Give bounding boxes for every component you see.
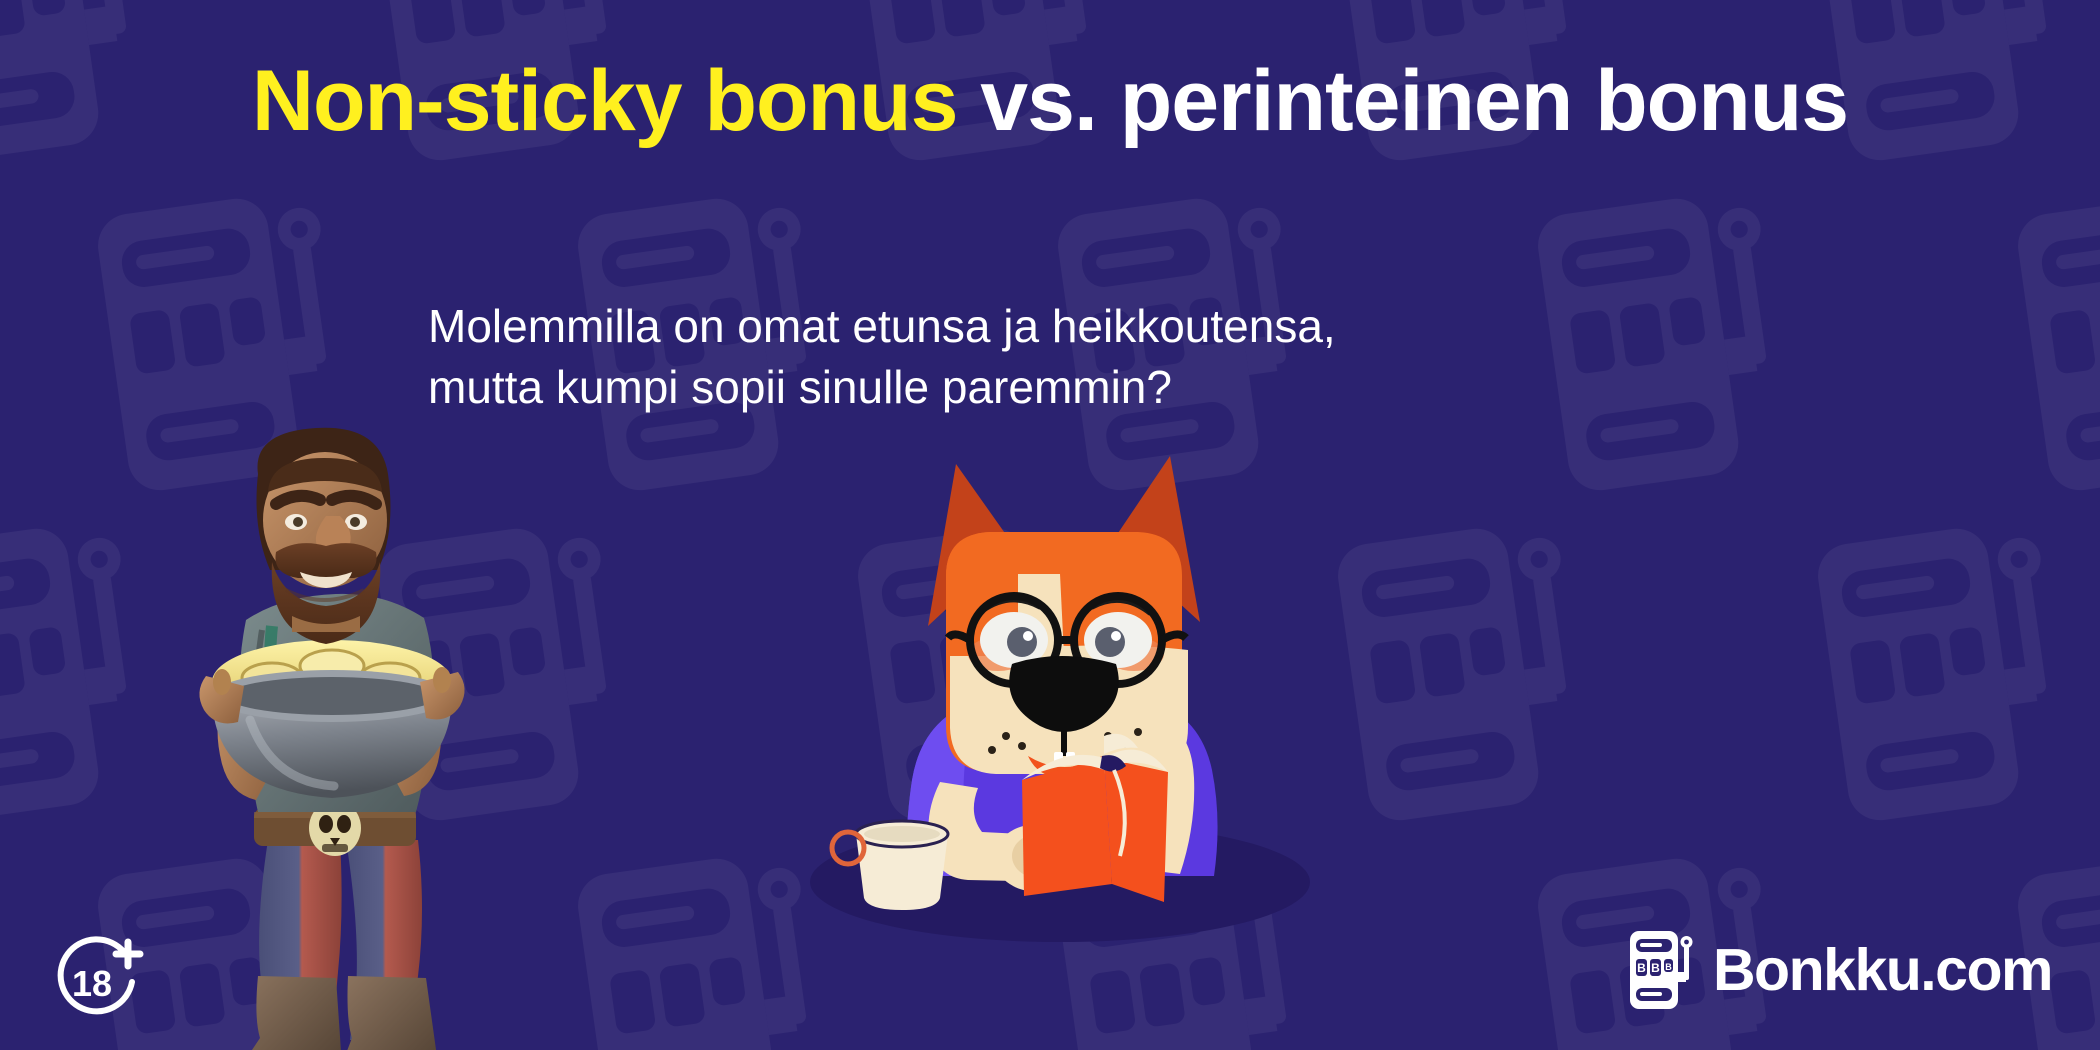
slot-machine-icon: B B B <box>1627 928 1699 1012</box>
slot-machine-watermark-icon <box>1781 501 2100 840</box>
subtitle-line-1: Molemmilla on omat etunsa ja heikkoutens… <box>428 296 1528 357</box>
slot-machine-watermark-icon <box>1501 171 1840 510</box>
slot-machine-watermark-icon <box>1301 501 1640 840</box>
banner-subtitle: Molemmilla on omat etunsa ja heikkoutens… <box>428 296 1528 417</box>
svg-text:18: 18 <box>72 963 112 1004</box>
banner-title: Non-sticky bonus vs. perinteinen bonus <box>0 56 2100 146</box>
slot-machine-watermark-icon <box>1981 171 2100 510</box>
svg-text:B: B <box>1637 961 1646 975</box>
svg-text:B: B <box>1665 962 1672 972</box>
dog-mascot-reading-book <box>770 450 1350 950</box>
logo-text: Bonkku.com <box>1713 941 2052 1000</box>
banner-stage: Non-sticky bonus vs. perinteinen bonus M… <box>0 0 2100 1050</box>
18-plus-age-restriction-badge: 18 <box>48 930 148 1030</box>
bonkku-logo[interactable]: B B B Bonkku.com <box>1627 928 2052 1012</box>
svg-text:B: B <box>1651 961 1660 975</box>
subtitle-line-2: mutta kumpi sopii sinulle paremmin? <box>428 357 1528 418</box>
title-highlight: Non-sticky bonus <box>252 53 958 149</box>
title-rest: vs. perinteinen bonus <box>957 53 1848 149</box>
dwarf-with-cauldron-of-gold <box>150 420 500 1050</box>
